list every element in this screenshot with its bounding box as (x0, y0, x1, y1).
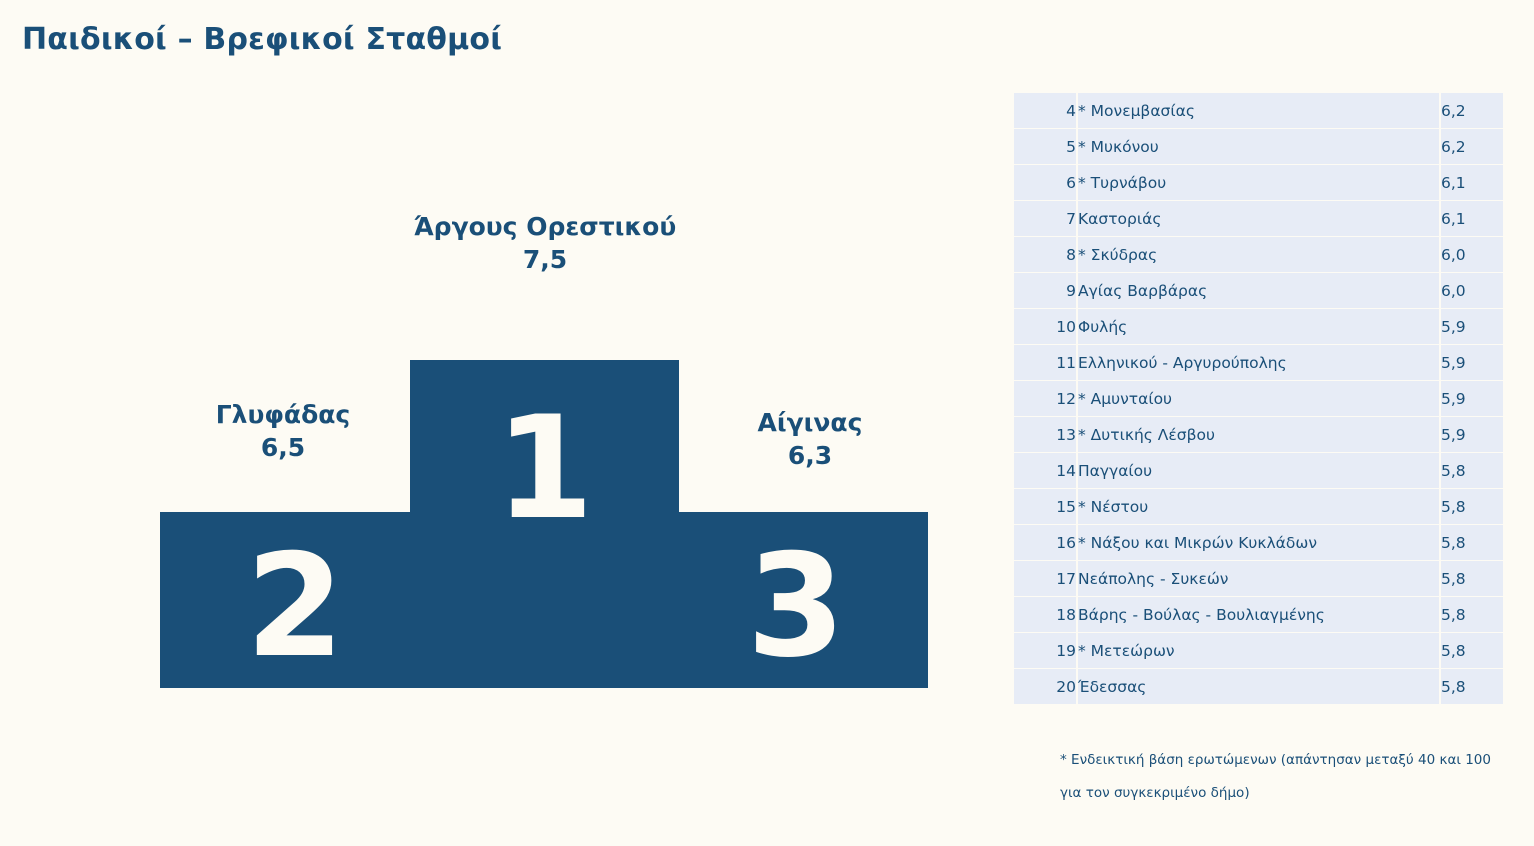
table-cell-municipality: * Μονεμβασίας (1078, 93, 1441, 128)
table-cell-rank: 19 (1014, 633, 1078, 668)
table-row: 13* Δυτικής Λέσβου5,9 (1014, 417, 1503, 452)
ranking-table-body: 4* Μονεμβασίας6,25* Μυκόνου6,26* Τυρνάβο… (1014, 93, 1503, 704)
table-row: 8* Σκύδρας6,0 (1014, 237, 1503, 272)
table-cell-rank: 18 (1014, 597, 1078, 632)
podium-first-name: Άργους Ορεστικού (405, 210, 685, 243)
table-cell-rank: 10 (1014, 309, 1078, 344)
table-row: 9Αγίας Βαρβάρας6,0 (1014, 273, 1503, 308)
table-cell-score: 5,8 (1441, 525, 1503, 560)
table-cell-municipality: * Αμυνταίου (1078, 381, 1441, 416)
table-cell-rank: 5 (1014, 129, 1078, 164)
table-cell-score: 6,1 (1441, 165, 1503, 200)
table-row: 4* Μονεμβασίας6,2 (1014, 93, 1503, 128)
table-cell-score: 5,9 (1441, 309, 1503, 344)
table-row: 14Παγγαίου5,8 (1014, 453, 1503, 488)
table-cell-municipality: Καστοριάς (1078, 201, 1441, 236)
table-cell-rank: 17 (1014, 561, 1078, 596)
table-cell-municipality: Παγγαίου (1078, 453, 1441, 488)
table-cell-score: 5,9 (1441, 381, 1503, 416)
table-row: 18Βάρης - Βούλας - Βουλιαγμένης5,8 (1014, 597, 1503, 632)
table-cell-municipality: Ελληνικού - Αργυρούπολης (1078, 345, 1441, 380)
table-cell-score: 6,2 (1441, 93, 1503, 128)
table-cell-score: 6,1 (1441, 201, 1503, 236)
podium-chart: 1 2 3 Άργους Ορεστικού 7,5 Γλυφάδας 6,5 … (0, 0, 1000, 846)
table-cell-municipality: * Τυρνάβου (1078, 165, 1441, 200)
table-cell-rank: 6 (1014, 165, 1078, 200)
table-cell-rank: 13 (1014, 417, 1078, 452)
table-row: 6* Τυρνάβου6,1 (1014, 165, 1503, 200)
podium-rank-number-1: 1 (410, 398, 679, 540)
table-row: 12* Αμυνταίου5,9 (1014, 381, 1503, 416)
table-cell-municipality: * Νέστου (1078, 489, 1441, 524)
table-cell-rank: 11 (1014, 345, 1078, 380)
table-row: 11Ελληνικού - Αργυρούπολης5,9 (1014, 345, 1503, 380)
table-cell-score: 5,8 (1441, 669, 1503, 704)
table-cell-municipality: * Σκύδρας (1078, 237, 1441, 272)
table-row: 19* Μετεώρων5,8 (1014, 633, 1503, 668)
footnote: * Ενδεικτική βάση ερωτώμενων (απάντησαν … (1060, 744, 1505, 810)
table-cell-score: 5,8 (1441, 453, 1503, 488)
table-row: 20Έδεσσας5,8 (1014, 669, 1503, 704)
table-cell-score: 6,2 (1441, 129, 1503, 164)
table-row: 10Φυλής5,9 (1014, 309, 1503, 344)
podium-rank-number-2: 2 (195, 536, 395, 678)
table-cell-score: 6,0 (1441, 273, 1503, 308)
podium-label-first-place: Άργους Ορεστικού 7,5 (405, 210, 685, 276)
table-row: 5* Μυκόνου6,2 (1014, 129, 1503, 164)
table-cell-rank: 12 (1014, 381, 1078, 416)
table-cell-rank: 20 (1014, 669, 1078, 704)
podium-second-score: 6,5 (172, 431, 394, 464)
table-cell-municipality: * Μετεώρων (1078, 633, 1441, 668)
table-row: 16* Νάξου και Μικρών Κυκλάδων5,8 (1014, 525, 1503, 560)
table-cell-municipality: Αγίας Βαρβάρας (1078, 273, 1441, 308)
table-cell-score: 5,9 (1441, 417, 1503, 452)
table-cell-municipality: * Μυκόνου (1078, 129, 1441, 164)
podium-rank-number-3: 3 (696, 536, 896, 678)
ranking-table: 4* Μονεμβασίας6,25* Μυκόνου6,26* Τυρνάβο… (1014, 92, 1503, 705)
podium-third-name: Αίγινας (700, 406, 920, 439)
table-cell-municipality: Έδεσσας (1078, 669, 1441, 704)
podium-third-score: 6,3 (700, 439, 920, 472)
table-cell-municipality: * Δυτικής Λέσβου (1078, 417, 1441, 452)
table-cell-score: 6,0 (1441, 237, 1503, 272)
table-cell-score: 5,9 (1441, 345, 1503, 380)
table-cell-municipality: Φυλής (1078, 309, 1441, 344)
podium-first-score: 7,5 (405, 243, 685, 276)
podium-second-name: Γλυφάδας (172, 398, 394, 431)
table-cell-municipality: Νεάπολης - Συκεών (1078, 561, 1441, 596)
table-row: 7Καστοριάς6,1 (1014, 201, 1503, 236)
table-cell-score: 5,8 (1441, 561, 1503, 596)
table-cell-rank: 9 (1014, 273, 1078, 308)
table-row: 15* Νέστου5,8 (1014, 489, 1503, 524)
table-cell-municipality: Βάρης - Βούλας - Βουλιαγμένης (1078, 597, 1441, 632)
table-cell-rank: 14 (1014, 453, 1078, 488)
table-cell-rank: 7 (1014, 201, 1078, 236)
table-cell-rank: 4 (1014, 93, 1078, 128)
table-cell-rank: 16 (1014, 525, 1078, 560)
table-cell-score: 5,8 (1441, 597, 1503, 632)
table-cell-municipality: * Νάξου και Μικρών Κυκλάδων (1078, 525, 1441, 560)
table-cell-rank: 15 (1014, 489, 1078, 524)
table-cell-score: 5,8 (1441, 489, 1503, 524)
podium-label-second-place: Γλυφάδας 6,5 (172, 398, 394, 464)
podium-label-third-place: Αίγινας 6,3 (700, 406, 920, 472)
table-cell-score: 5,8 (1441, 633, 1503, 668)
table-cell-rank: 8 (1014, 237, 1078, 272)
table-row: 17Νεάπολης - Συκεών5,8 (1014, 561, 1503, 596)
